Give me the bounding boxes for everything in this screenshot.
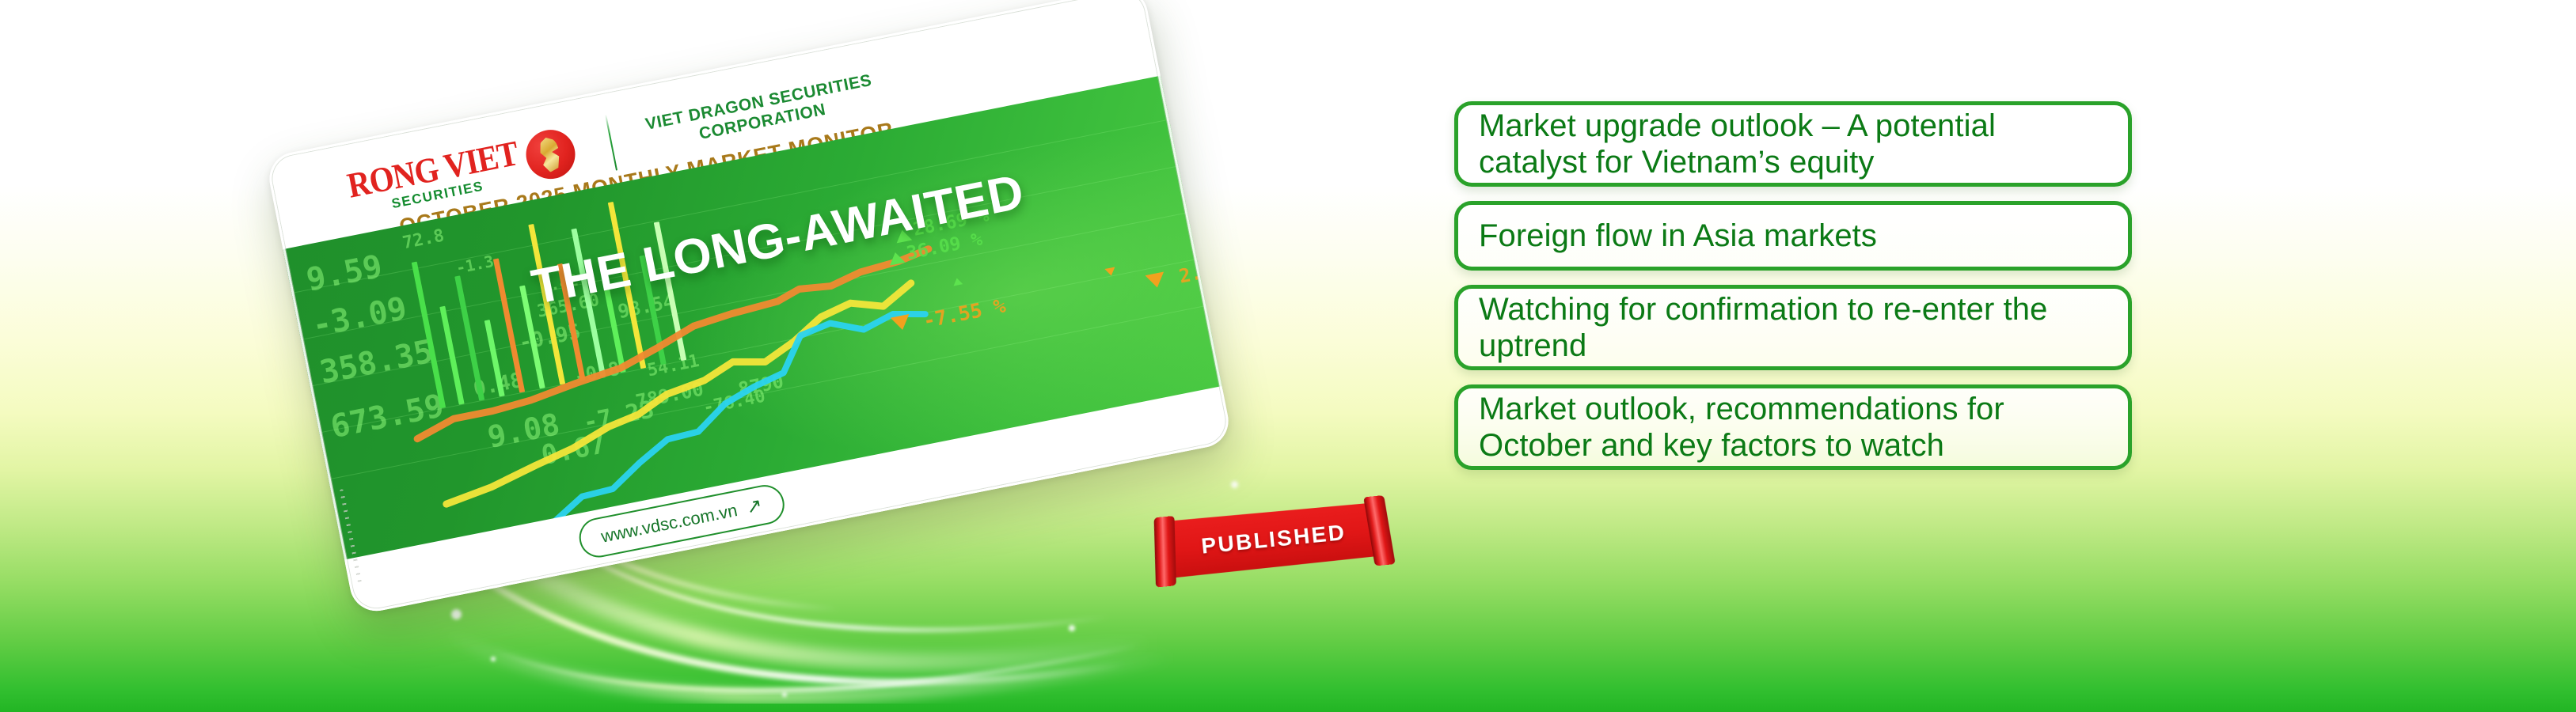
highlight-text: Foreign flow in Asia markets [1479, 218, 1877, 254]
list-item[interactable]: Market outlook, recommendations for Octo… [1454, 384, 2132, 470]
highlight-list: Market upgrade outlook – A potential cat… [1454, 101, 2132, 484]
highlight-text: Market outlook, recommendations for Octo… [1479, 391, 2107, 464]
external-link-arrow-icon: ↗ [745, 496, 764, 517]
vertical-divider-icon [605, 114, 617, 170]
list-item[interactable]: Foreign flow in Asia markets [1454, 201, 2132, 271]
list-item[interactable]: Watching for confirmation to re-enter th… [1454, 285, 2132, 370]
ribbon-label: PUBLISHED [1171, 517, 1377, 562]
ribbon-fold-left-icon [1154, 516, 1176, 588]
promo-banner: RONG VIET SECURITIES VIET DRAGON SECURIT… [0, 0, 2576, 712]
dragon-icon [522, 126, 579, 184]
highlight-text: Market upgrade outlook – A potential cat… [1479, 108, 2107, 181]
highlight-text: Watching for confirmation to re-enter th… [1479, 291, 2107, 365]
published-ribbon: PUBLISHED [1152, 495, 1393, 586]
report-cover-card[interactable]: RONG VIET SECURITIES VIET DRAGON SECURIT… [264, 0, 1233, 615]
website-url-text: www.vdsc.com.vn [599, 500, 739, 547]
list-item[interactable]: Market upgrade outlook – A potential cat… [1454, 101, 2132, 187]
ribbon-body: PUBLISHED [1169, 501, 1378, 578]
